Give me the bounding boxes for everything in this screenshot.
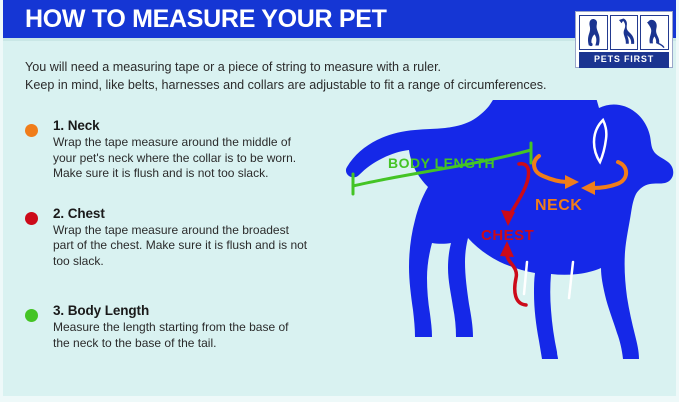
dog-measurement-diagram: BODY LENGTH NECK CHEST: [303, 100, 679, 396]
sitting-dog-icon-2: [640, 15, 669, 50]
label-chest: CHEST: [481, 227, 534, 244]
logo-icon-row: [579, 15, 669, 50]
instruction-list: 1. Neck Wrap the tape measure around the…: [23, 118, 308, 351]
list-item-title: 1. Neck: [53, 118, 308, 133]
bullet-icon-body-length: [25, 309, 38, 322]
page-title: HOW TO MEASURE YOUR PET: [25, 5, 387, 34]
label-body-length: BODY LENGTH: [388, 155, 495, 171]
bullet-icon-chest: [25, 212, 38, 225]
label-neck: NECK: [535, 197, 582, 214]
bullet-icon-neck: [25, 124, 38, 137]
list-item-title: 2. Chest: [53, 206, 308, 221]
list-item-body-length: 3. Body Length Measure the length starti…: [23, 303, 308, 351]
begging-dog-icon: [610, 15, 639, 50]
intro-line-2: Keep in mind, like belts, harnesses and …: [25, 76, 545, 94]
intro-text: You will need a measuring tape or a piec…: [25, 58, 545, 94]
infographic-page: HOW TO MEASURE YOUR PET PETS: [0, 0, 679, 402]
list-item-neck: 1. Neck Wrap the tape measure around the…: [23, 118, 308, 182]
list-item-body: Wrap the tape measure around the middle …: [53, 135, 308, 182]
list-item-title: 3. Body Length: [53, 303, 308, 318]
intro-line-1: You will need a measuring tape or a piec…: [25, 58, 545, 76]
logo-wordmark: PETS FIRST: [579, 52, 669, 68]
brand-logo: PETS FIRST: [575, 11, 673, 68]
list-item-chest: 2. Chest Wrap the tape measure around th…: [23, 206, 308, 270]
sitting-dog-icon: [579, 15, 608, 50]
list-item-body: Wrap the tape measure around the broades…: [53, 223, 308, 270]
list-item-body: Measure the length starting from the bas…: [53, 320, 308, 351]
